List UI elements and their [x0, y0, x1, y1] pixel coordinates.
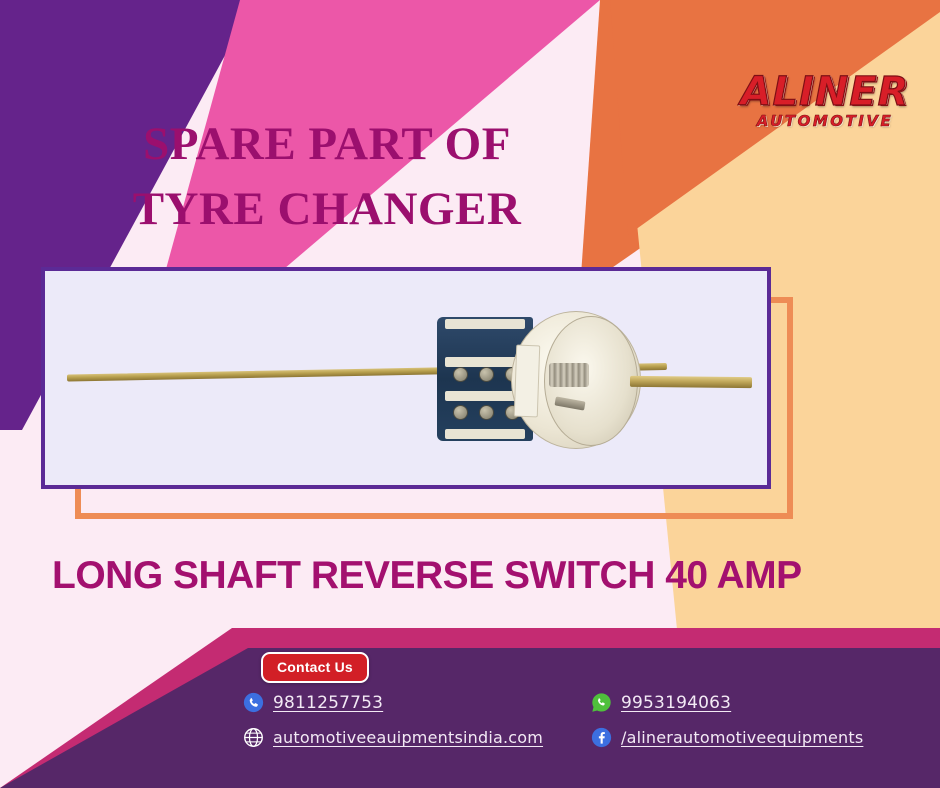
contact-whatsapp-label: 9953194063 — [621, 693, 731, 713]
brand-logo: ALINER AUTOMOTIVE — [732, 72, 918, 129]
terminal-fin — [445, 429, 525, 439]
product-label-strip — [514, 345, 540, 418]
phone-icon — [243, 692, 264, 713]
contact-website-label: automotiveeauipmentsindia.com — [273, 728, 543, 747]
contact-phone[interactable]: 9811257753 — [243, 692, 591, 713]
headline-line-2: TYRE CHANGER — [92, 177, 562, 242]
facebook-icon — [591, 727, 612, 748]
contact-whatsapp[interactable]: 9953194063 — [591, 692, 933, 713]
product-photo — [45, 271, 767, 485]
promotional-poster: ALINER AUTOMOTIVE SPARE PART OF TYRE CHA… — [0, 0, 940, 788]
terminal-screw — [453, 367, 468, 382]
contact-phone-label: 9811257753 — [273, 693, 383, 713]
globe-icon — [243, 727, 264, 748]
product-shaft-right — [630, 376, 752, 388]
product-title: LONG SHAFT REVERSE SWITCH 40 AMP — [52, 554, 892, 598]
product-image-frame — [41, 267, 771, 489]
contact-facebook-label: /alinerautomotiveequipments — [621, 728, 863, 747]
contact-facebook[interactable]: /alinerautomotiveequipments — [591, 727, 933, 748]
contact-website[interactable]: automotiveeauipmentsindia.com — [243, 727, 591, 748]
terminal-fin — [445, 319, 525, 329]
brand-logo-name: ALINER — [732, 72, 918, 112]
whatsapp-icon — [591, 692, 612, 713]
product-switch-body — [437, 311, 572, 446]
product-spring — [549, 363, 589, 387]
terminal-screw — [479, 367, 494, 382]
contact-list: 9811257753 9953194063 automotiveeauipmen… — [243, 692, 933, 748]
headline-line-1: SPARE PART OF — [92, 112, 562, 177]
terminal-screw — [479, 405, 494, 420]
brand-logo-tagline: AUTOMOTIVE — [732, 114, 918, 129]
headline: SPARE PART OF TYRE CHANGER — [92, 112, 562, 242]
terminal-screw — [453, 405, 468, 420]
contact-us-badge: Contact Us — [261, 652, 369, 683]
